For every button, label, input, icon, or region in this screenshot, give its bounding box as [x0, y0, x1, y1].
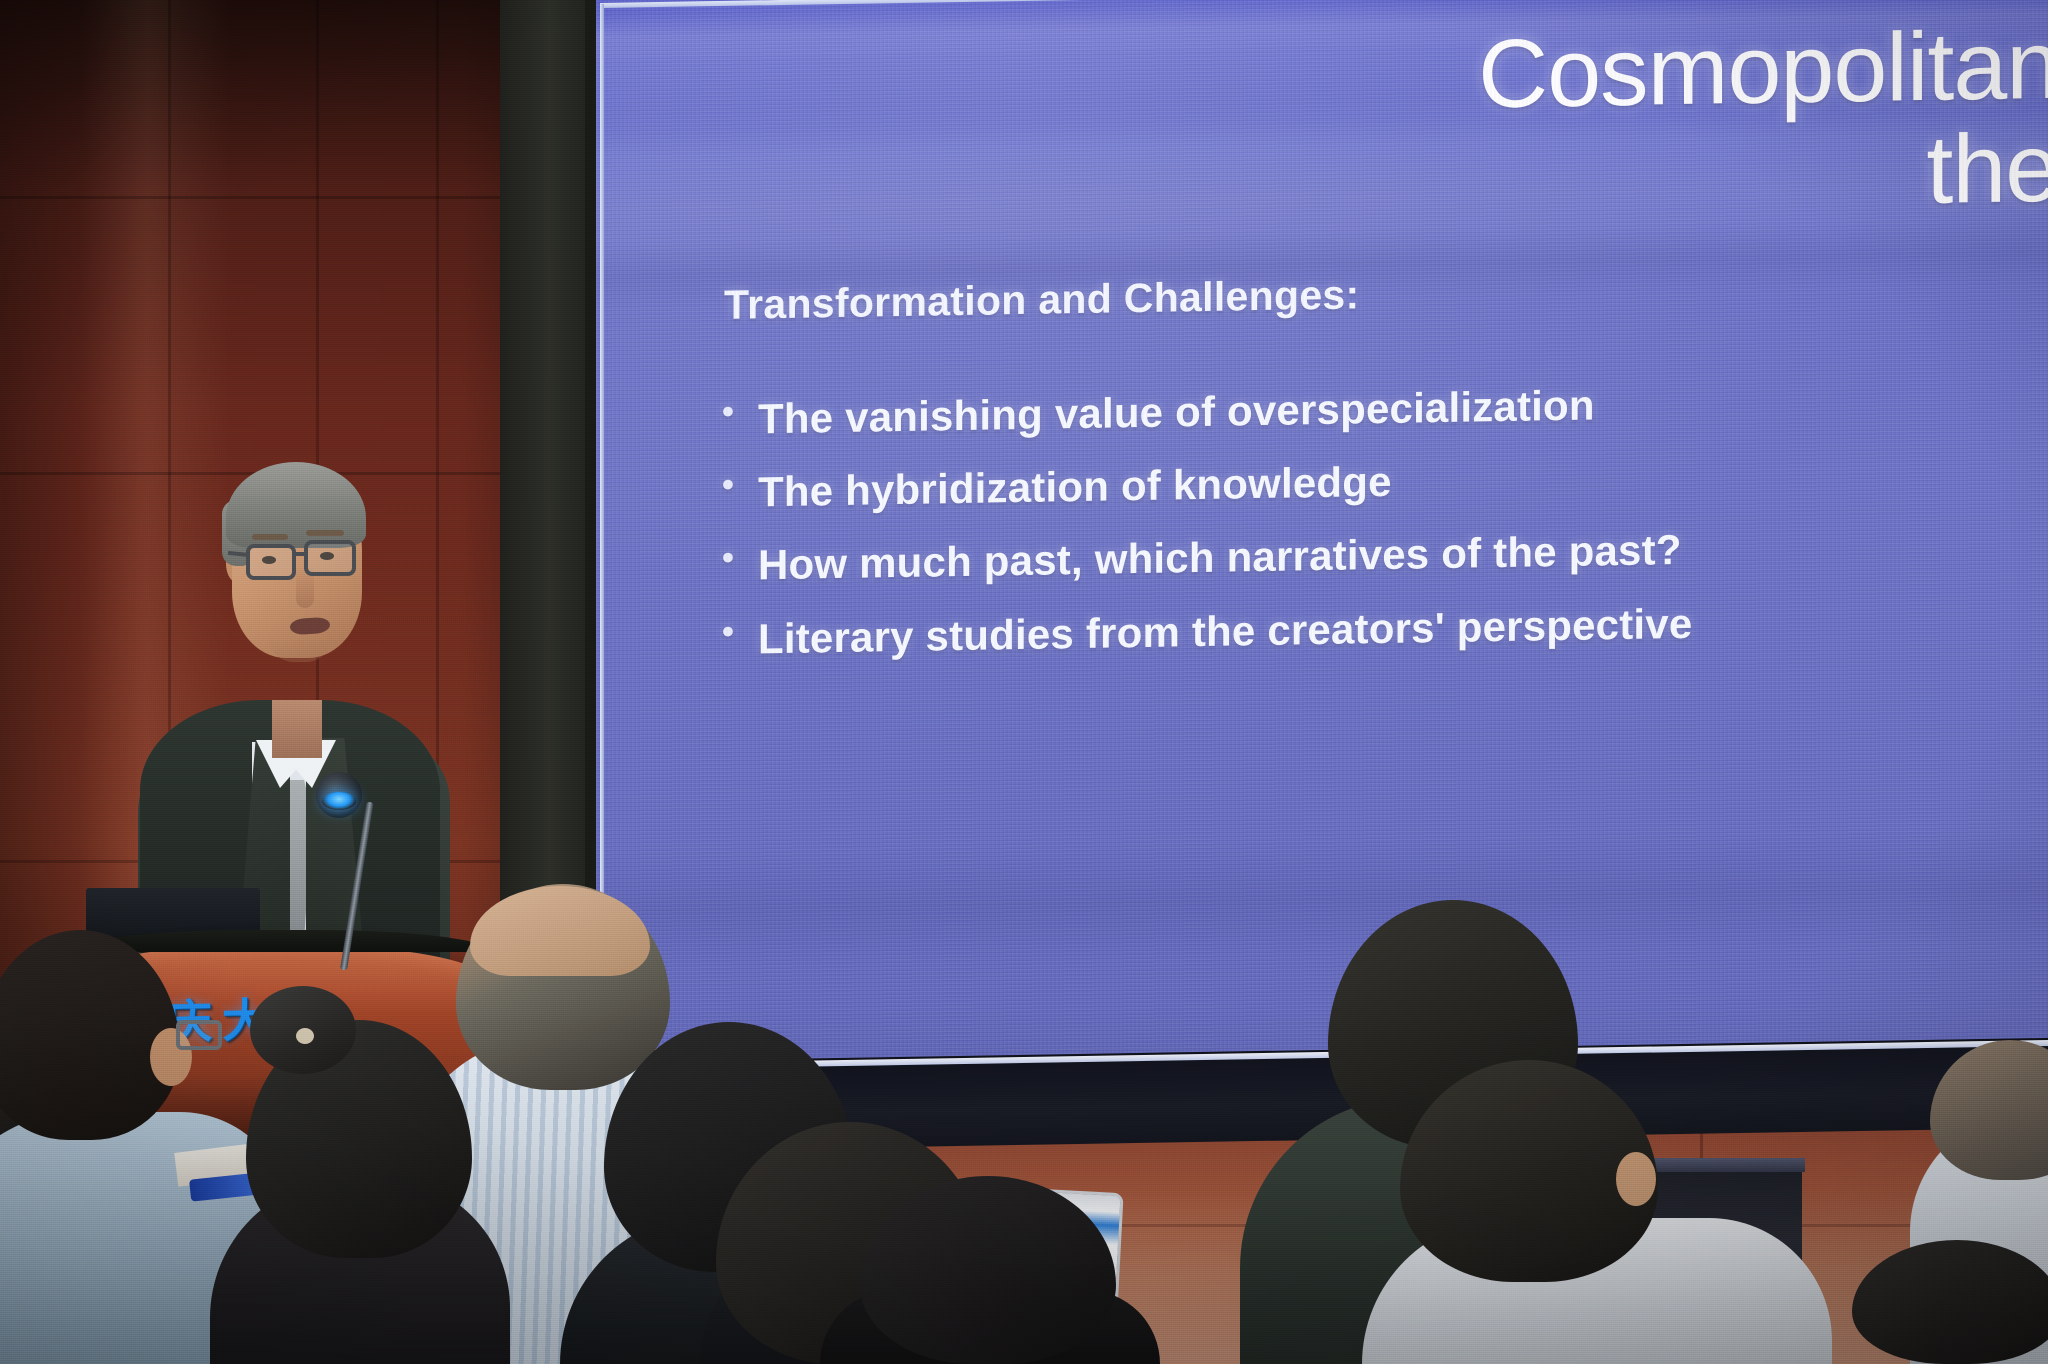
glasses-bridge: [294, 552, 308, 556]
slide-bullet-item: How much past, which narratives of the p…: [722, 518, 2048, 591]
slide-bullet-item: The hybridization of knowledge: [722, 445, 2048, 518]
audience-glasses-icon: [176, 1020, 222, 1050]
slide-title-line-2: the Hum: [726, 113, 2048, 242]
audience-ear: [1616, 1152, 1656, 1206]
slide-bullet-list: The vanishing value of overspecializatio…: [722, 372, 2048, 687]
glasses-lens-left-icon: [246, 544, 296, 580]
lecture-hall-photo: Cosmopolitanism a the Hum Transformation…: [0, 0, 2048, 1364]
speaker-eyebrow-right: [306, 530, 344, 536]
slide-bullet-item: Literary studies from the creators' pers…: [722, 591, 2048, 664]
slide-title-line-1: Cosmopolitanism a: [1478, 6, 2048, 128]
slide-subheading: Transformation and Challenges:: [724, 260, 2024, 329]
projection-screen: Cosmopolitanism a the Hum Transformation…: [596, 0, 2048, 1072]
projector-light-band: [596, 828, 2048, 972]
microphone-indicator-light: [322, 792, 356, 810]
audience-hair-pin: [296, 1028, 314, 1044]
speaker-eyebrow-left: [252, 534, 288, 540]
slide-title: Cosmopolitanism a the Hum: [726, 10, 2048, 241]
speaker-neck: [272, 700, 322, 758]
glasses-lens-right-icon: [304, 540, 356, 576]
slide-bullet-item: The vanishing value of overspecializatio…: [722, 372, 2048, 445]
